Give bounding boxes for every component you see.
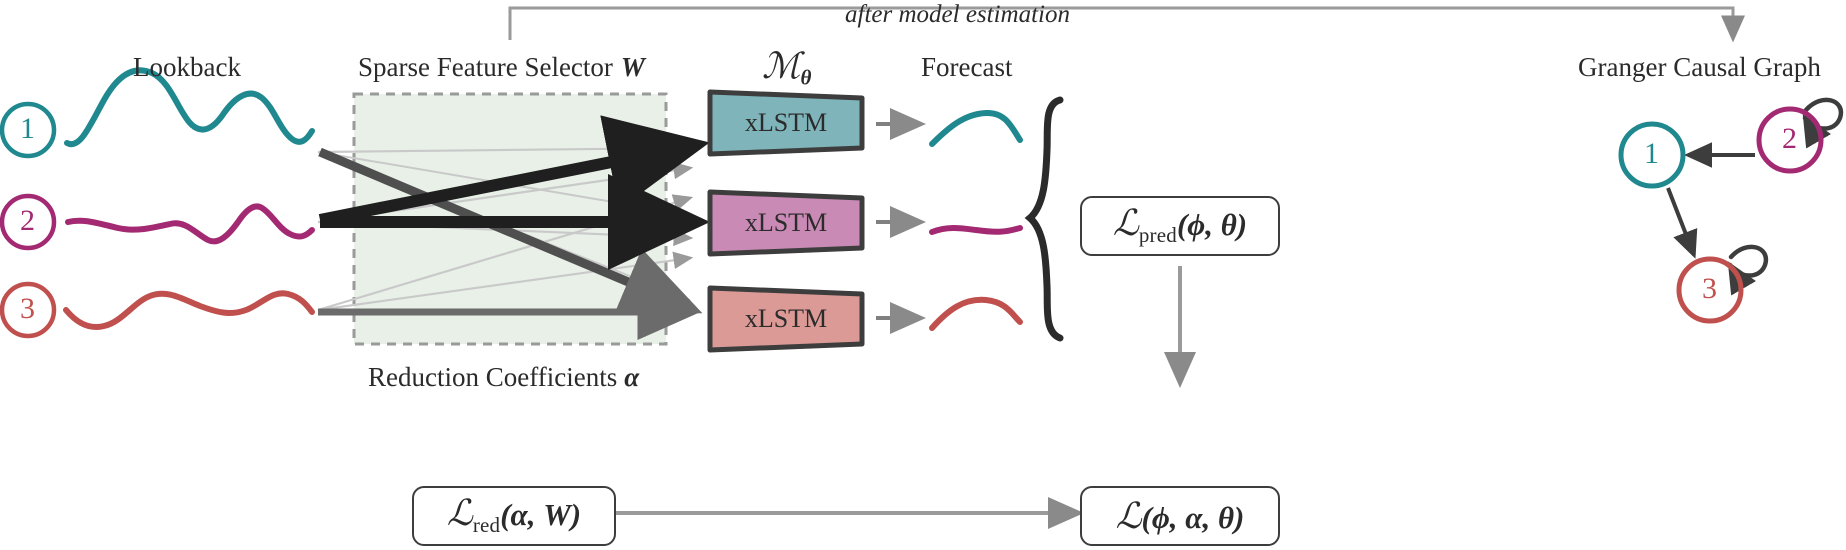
- column-header-selector: Sparse Feature SelectorW: [358, 52, 645, 83]
- xlstm-label-1: xLSTM: [710, 98, 862, 148]
- forecast-series-1: [932, 113, 1020, 144]
- xlstm-label-3: xLSTM: [710, 294, 862, 344]
- prediction-loss-args: (ϕ, θ): [1177, 207, 1247, 242]
- forecast-arrows: [876, 124, 920, 318]
- total-loss-symbol: ℒ: [1116, 496, 1142, 537]
- series-index-label-1: 1: [20, 112, 35, 146]
- column-header-lookback: Lookback: [133, 52, 241, 83]
- reduction-caption-text: Reduction Coefficients: [368, 362, 617, 392]
- reduction-coefficients-caption: Reduction Coefficientsα: [368, 362, 639, 393]
- after-model-estimation-label: after model estimation: [845, 1, 1070, 29]
- reduction-loss-box[interactable]: ℒred(α, W): [412, 486, 616, 546]
- lookback-series-2: [68, 206, 312, 241]
- column-header-model: ℳθ: [762, 46, 812, 90]
- xlstm-label-text-3: xLSTM: [710, 304, 862, 334]
- xlstm-label-text-2: xLSTM: [710, 208, 862, 238]
- forecast-series-3: [932, 300, 1020, 328]
- selector-header-text: Sparse Feature Selector: [358, 52, 613, 82]
- selector-symbol-W: W: [621, 52, 645, 82]
- reduction-loss-args: (α, W): [500, 497, 581, 532]
- forecast-grouping-brace: [1030, 100, 1060, 338]
- granger-node-label-1: 1: [1644, 137, 1659, 171]
- lookback-series-3: [66, 293, 312, 327]
- total-loss-box[interactable]: ℒ(ϕ, α, θ): [1080, 486, 1280, 546]
- total-loss-args: (ϕ, α, θ): [1142, 500, 1245, 535]
- forecast-series-2: [932, 228, 1020, 232]
- prediction-loss-subscript: pred: [1139, 224, 1177, 248]
- prediction-loss-symbol: ℒ: [1113, 203, 1139, 244]
- model-subscript-theta: θ: [801, 65, 812, 89]
- granger-node-label-3: 3: [1702, 272, 1717, 306]
- after-model-estimation-path: [510, 8, 1733, 40]
- figure-canvas: after model estimation Lookback Sparse F…: [0, 0, 1846, 550]
- reduction-symbol-alpha: α: [624, 362, 639, 392]
- reduction-loss-subscript: red: [473, 514, 500, 538]
- reduction-loss-expression: ℒred(α, W): [447, 493, 581, 538]
- model-symbol-M: ℳ: [762, 46, 801, 87]
- granger-node-label-2: 2: [1782, 122, 1797, 156]
- prediction-loss-box[interactable]: ℒpred(ϕ, θ): [1080, 196, 1280, 256]
- xlstm-label-text-1: xLSTM: [710, 108, 862, 138]
- series-index-label-2: 2: [20, 204, 35, 238]
- prediction-loss-expression: ℒpred(ϕ, θ): [1113, 203, 1247, 248]
- reduction-loss-symbol: ℒ: [447, 493, 473, 534]
- series-index-label-3: 3: [20, 292, 35, 326]
- column-header-forecast: Forecast: [921, 52, 1012, 83]
- column-header-granger-graph: Granger Causal Graph: [1578, 52, 1821, 83]
- xlstm-label-2: xLSTM: [710, 198, 862, 248]
- total-loss-expression: ℒ(ϕ, α, θ): [1116, 496, 1245, 537]
